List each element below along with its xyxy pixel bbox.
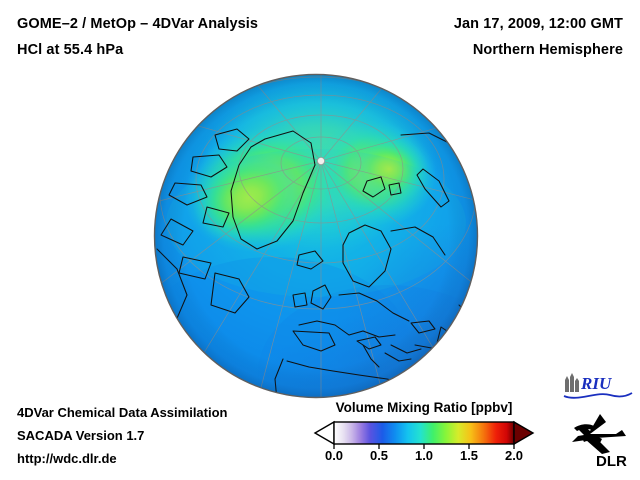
dlr-mark-icon <box>572 414 626 454</box>
dlr-wordmark: DLR <box>596 453 627 470</box>
colorbar-tick-labels: 0.00.51.01.52.0 <box>310 448 538 468</box>
page-subtitle: HCl at 55.4 hPa <box>17 42 123 58</box>
riu-wave-icon <box>564 393 632 398</box>
colorbar-tick-label: 2.0 <box>505 448 523 463</box>
dlr-logo: DLR <box>566 412 632 470</box>
colorbar-title: Volume Mixing Ratio [ppbv] <box>310 400 538 415</box>
riu-logo: RIU <box>562 372 634 402</box>
north-pole-marker <box>317 157 324 164</box>
riu-tower-icon <box>565 373 579 392</box>
colorbar-bar <box>334 422 514 444</box>
globe-map <box>153 73 479 399</box>
colorbar-max-arrow <box>514 422 533 444</box>
timestamp-label: Jan 17, 2009, 12:00 GMT <box>454 16 623 32</box>
riu-wordmark: RIU <box>580 374 612 393</box>
footer-line-assimilation: 4DVar Chemical Data Assimilation <box>17 405 228 420</box>
region-label: Northern Hemisphere <box>473 42 623 58</box>
page-title: GOME–2 / MetOp – 4DVar Analysis <box>17 16 258 32</box>
colorbar: Volume Mixing Ratio [ppbv] 0.00.51.01.52… <box>310 400 538 472</box>
colorbar-min-arrow <box>315 422 334 444</box>
footer-line-url[interactable]: http://wdc.dlr.de <box>17 451 117 466</box>
colorbar-tick-label: 0.0 <box>325 448 343 463</box>
colorbar-tick-label: 1.5 <box>460 448 478 463</box>
colorbar-tick-label: 0.5 <box>370 448 388 463</box>
footer-line-version: SACADA Version 1.7 <box>17 428 144 443</box>
colorbar-tick-label: 1.0 <box>415 448 433 463</box>
globe-shading <box>154 74 478 398</box>
colorbar-gradient <box>310 420 538 450</box>
figure-canvas: GOME–2 / MetOp – 4DVar Analysis HCl at 5… <box>0 0 640 480</box>
